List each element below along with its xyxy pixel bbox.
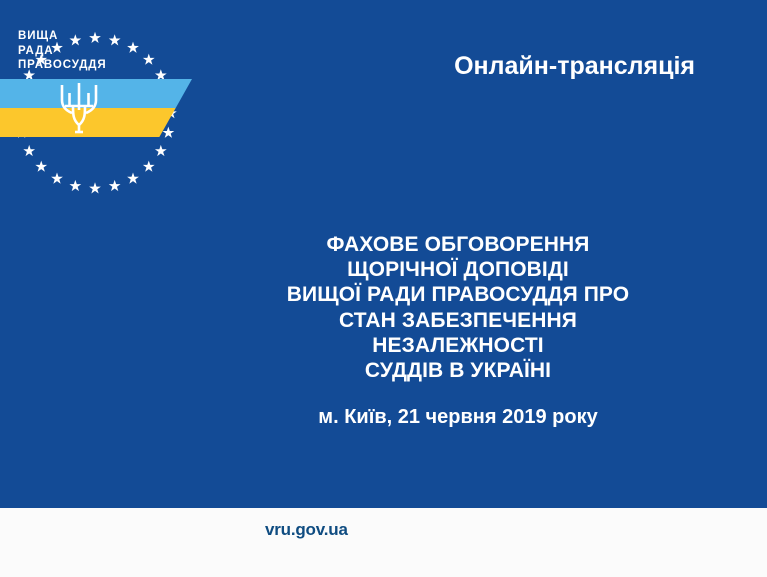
page-title: ФАХОВЕ ОБГОВОРЕННЯ ЩОРІЧНОЇ ДОПОВІДІ ВИЩ…: [233, 232, 683, 383]
logo-wordmark-line-1: Вища: [18, 29, 107, 44]
title-line-3: ВИЩОЇ РАДИ ПРАВОСУДДЯ ПРО: [233, 282, 683, 307]
title-line-6: СУДДІВ В УКРАЇНІ: [233, 358, 683, 383]
title-block: ФАХОВЕ ОБГОВОРЕННЯ ЩОРІЧНОЇ ДОПОВІДІ ВИЩ…: [233, 232, 683, 429]
footer-bar: vru.gov.ua: [0, 508, 767, 577]
ukrainian-trident-icon: [58, 80, 100, 136]
presentation-slide: Вища Рада Правосуддя Онлайн-трансляція Ф…: [0, 0, 767, 577]
event-place-and-date: м. Київ, 21 червня 2019 року: [233, 405, 683, 429]
title-line-5: НЕЗАЛЕЖНОСТІ: [233, 333, 683, 358]
title-line-4: СТАН ЗАБЕЗПЕЧЕННЯ: [233, 308, 683, 333]
title-line-2: ЩОРІЧНОЇ ДОПОВІДІ: [233, 257, 683, 282]
title-line-1: ФАХОВЕ ОБГОВОРЕННЯ: [233, 232, 683, 257]
footer-website-link[interactable]: vru.gov.ua: [265, 520, 348, 540]
broadcast-label: Онлайн-трансляція: [0, 51, 767, 81]
vru-logo: Вища Рада Правосуддя: [0, 0, 230, 200]
